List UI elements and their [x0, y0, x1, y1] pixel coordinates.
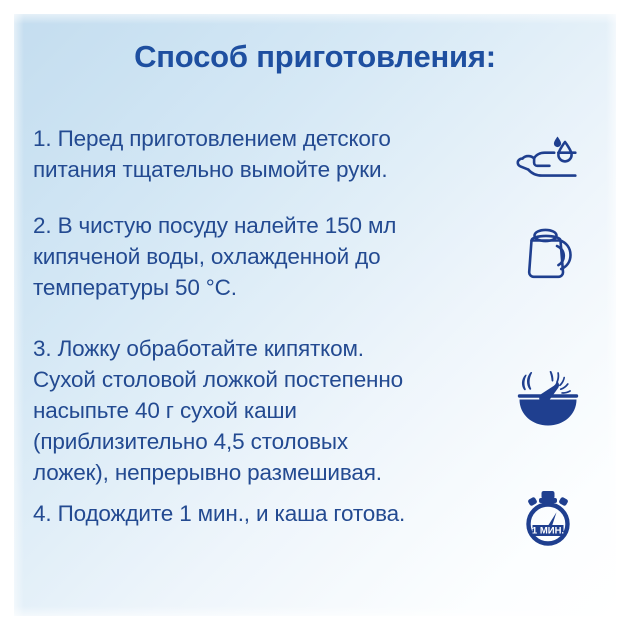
page-title: Способ приготовления: [0, 40, 630, 74]
stopwatch-label-text: 1 МИН. [532, 525, 564, 536]
instruction-step-1: 1. Перед приготовлением детского питания… [33, 123, 513, 185]
hand-washing-icon [512, 124, 584, 188]
instruction-step-3: 3. Ложку обработайте кипятком. Сухой сто… [33, 333, 513, 488]
instruction-step-2: 2. В чистую посуду налейте 150 мл кипяче… [33, 210, 513, 303]
stopwatch-icon: 1 МИН. [512, 486, 584, 550]
preparation-instructions-card: Способ приготовления: 1. Перед приготовл… [0, 0, 630, 630]
bowl-with-spoon-icon [512, 366, 584, 430]
kettle-icon [512, 222, 584, 286]
instruction-step-4: 4. Подождите 1 мин., и каша готова. [33, 498, 513, 529]
